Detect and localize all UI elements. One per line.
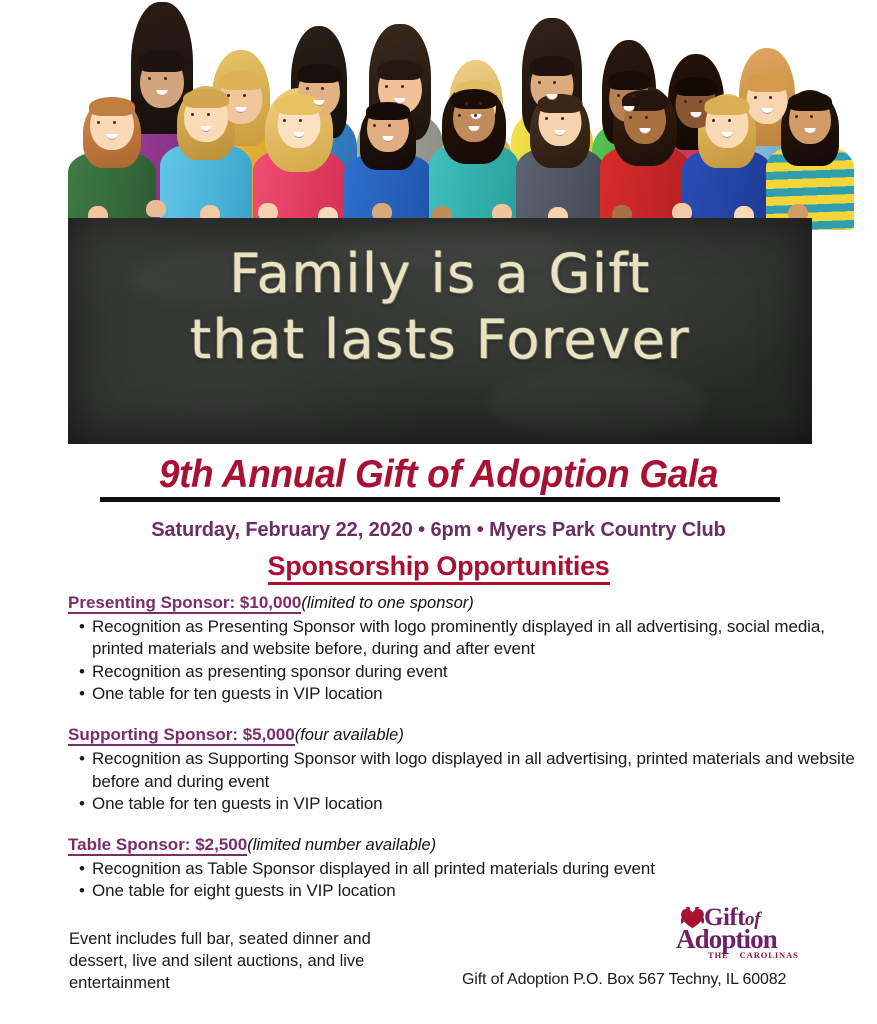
tier-name: Presenting Sponsor: $10,000 [68, 593, 301, 614]
tier-benefit-list: •Recognition as Table Sponsor displayed … [68, 858, 858, 903]
child-hand [146, 200, 166, 217]
gift-of-adoption-logo: Giftof Adoption THECAROLINAS [676, 906, 798, 964]
tier-heading: Presenting Sponsor: $10,000(limited to o… [68, 592, 858, 614]
organization-address: Gift of Adoption P.O. Box 567 Techny, IL… [462, 971, 786, 989]
chalkboard-banner: Family is a Gift that lasts Forever [68, 218, 812, 444]
tier-benefit-text: Recognition as Table Sponsor displayed i… [92, 859, 655, 878]
tier-benefit-text: Recognition as Supporting Sponsor with l… [92, 749, 855, 790]
bullet-glyph: • [79, 880, 85, 902]
tier-benefit-item: •One table for eight guests in VIP locat… [68, 880, 858, 902]
tier-benefit-list: •Recognition as Supporting Sponsor with … [68, 748, 858, 815]
tier-benefit-item: •Recognition as Presenting Sponsor with … [68, 616, 858, 661]
tier-heading: Supporting Sponsor: $5,000(four availabl… [68, 724, 858, 746]
tier-benefit-item: •Recognition as Supporting Sponsor with … [68, 748, 858, 793]
tier-availability-note: (limited number available) [247, 836, 436, 854]
sponsorship-tier-list: Presenting Sponsor: $10,000(limited to o… [68, 592, 858, 920]
tier-benefit-item: •Recognition as presenting sponsor durin… [68, 661, 858, 683]
bullet-glyph: • [79, 616, 85, 638]
event-details-line: Saturday, February 22, 2020 • 6pm • Myer… [0, 519, 877, 542]
title-divider-rule [100, 497, 780, 502]
sponsor-tier-supporting: Supporting Sponsor: $5,000(four availabl… [68, 724, 858, 815]
tier-name: Supporting Sponsor: $5,000 [68, 725, 295, 746]
tier-benefit-text: One table for ten guests in VIP location [92, 794, 383, 813]
tier-benefit-text: Recognition as presenting sponsor during… [92, 662, 447, 681]
logo-tagline-the: THE [708, 950, 729, 960]
event-inclusions-note: Event includes full bar, seated dinner a… [69, 929, 419, 995]
bullet-glyph: • [79, 683, 85, 705]
tier-benefit-item: •One table for ten guests in VIP locatio… [68, 793, 858, 815]
tier-benefit-item: •One table for ten guests in VIP locatio… [68, 683, 858, 705]
tier-availability-note: (four available) [295, 726, 404, 744]
sponsor-tier-presenting: Presenting Sponsor: $10,000(limited to o… [68, 592, 858, 705]
tier-heading: Table Sponsor: $2,500(limited number ava… [68, 834, 858, 856]
tier-benefit-text: Recognition as Presenting Sponsor with l… [92, 617, 825, 658]
tier-name: Table Sponsor: $2,500 [68, 835, 247, 856]
chalkboard-headline: Family is a Gift that lasts Forever [68, 244, 812, 371]
sponsorship-heading-text: Sponsorship Opportunities [268, 551, 610, 585]
tier-benefit-text: One table for ten guests in VIP location [92, 684, 383, 703]
tier-benefit-list: •Recognition as Presenting Sponsor with … [68, 616, 858, 705]
page-title: 9th Annual Gift of Adoption Gala [22, 455, 855, 496]
flyer-page: Family is a Gift that lasts Forever 9th … [0, 0, 877, 1024]
tier-benefit-item: •Recognition as Table Sponsor displayed … [68, 858, 858, 880]
bullet-glyph: • [79, 858, 85, 880]
bullet-glyph: • [79, 661, 85, 683]
tier-benefit-text: One table for eight guests in VIP locati… [92, 881, 396, 900]
chalk-headline-line-1: Family is a Gift [68, 244, 812, 304]
logo-word-adoption: Adoption [676, 926, 777, 953]
children-group-photo [0, 0, 877, 230]
logo-tagline: THECAROLINAS [708, 951, 799, 960]
sponsorship-section-heading: Sponsorship Opportunities [0, 551, 877, 582]
bullet-glyph: • [79, 748, 85, 770]
tier-availability-note: (limited to one sponsor) [301, 594, 473, 612]
chalk-smudge [488, 368, 708, 438]
logo-tagline-carolinas: CAROLINAS [740, 950, 799, 960]
gala-title-block: 9th Annual Gift of Adoption Gala [0, 455, 877, 496]
chalk-headline-line-2: that lasts Forever [68, 310, 812, 370]
sponsor-tier-table: Table Sponsor: $2,500(limited number ava… [68, 834, 858, 903]
bullet-glyph: • [79, 793, 85, 815]
